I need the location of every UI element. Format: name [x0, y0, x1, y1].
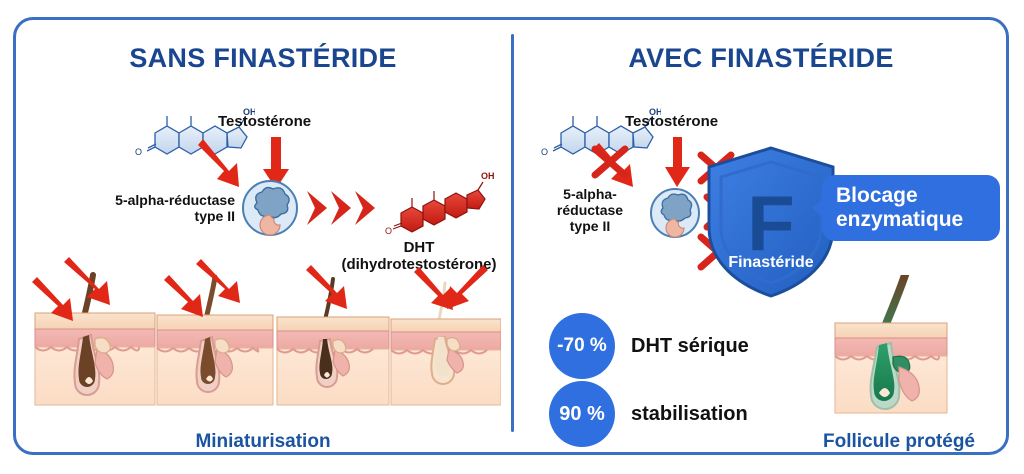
panel-without-finasteride: SANS FINASTÉRIDE O OH Testostérone	[13, 17, 513, 455]
enzyme-cell-icon	[241, 179, 299, 237]
enzyme-label-left: 5-alpha-réductasetype II	[85, 193, 235, 225]
panel-with-finasteride: AVEC FINASTÉRIDE O OH Testostérone	[513, 17, 1009, 455]
conversion-chevrons-icon	[305, 189, 383, 227]
enzyme-label-line2-right: réductase	[557, 202, 623, 218]
testosterone-label-right: Testostérone	[625, 113, 718, 130]
stat-badge-stabilisation-value: 90 %	[559, 403, 605, 426]
follicle-miniaturisation-series	[29, 253, 501, 423]
shield-label: Finastéride	[728, 254, 813, 271]
protected-follicle-icon	[819, 275, 979, 425]
stat-badge-stabilisation: 90 %	[549, 381, 615, 447]
panel-left-title: SANS FINASTÉRIDE	[13, 43, 513, 74]
follicule-protege-caption: Follicule protégé	[799, 431, 999, 453]
molecule-o-label: O	[135, 147, 142, 157]
follicle-stage-2	[157, 277, 273, 405]
enzyme-label-line3-right: type II	[570, 218, 610, 234]
dht-molecule-o-label: O	[385, 226, 392, 236]
dht-attack-arrows-icon	[32, 257, 488, 321]
miniaturisation-caption: Miniaturisation	[13, 431, 513, 453]
enzyme-cell-icon-right	[649, 187, 701, 239]
blocage-enzymatique-callout: Blocageenzymatique	[822, 175, 1000, 241]
enzyme-label-right: 5-alpha-réductasetype II	[535, 187, 645, 235]
callout-line1: Blocage	[836, 184, 918, 207]
dht-molecule-icon: O OH	[385, 165, 495, 241]
enzyme-label-line2: type II	[195, 208, 235, 224]
enzyme-label-line1: 5-alpha-réductase	[115, 192, 235, 208]
enzyme-label-line1-right: 5-alpha-	[563, 186, 617, 202]
stat-label-dht: DHT sérique	[631, 335, 749, 358]
callout-line2: enzymatique	[836, 208, 963, 231]
dht-molecule-oh-label: OH	[481, 171, 495, 181]
testosterone-label-left: Testostérone	[218, 113, 311, 130]
stat-label-stabilisation: stabilisation	[631, 403, 748, 426]
stat-badge-dht-value: -70 %	[557, 335, 607, 357]
stat-badge-dht: -70 %	[549, 313, 615, 379]
panel-right-title: AVEC FINASTÉRIDE	[513, 43, 1009, 74]
molecule-o-label-right: O	[541, 147, 548, 157]
